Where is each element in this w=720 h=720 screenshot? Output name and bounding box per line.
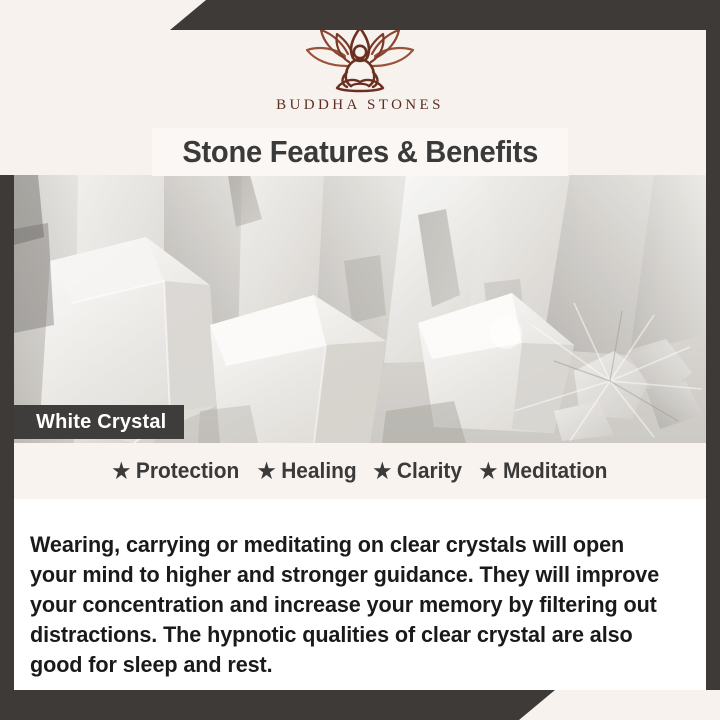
description-area: Wearing, carrying or meditating on clear… — [14, 499, 706, 690]
brand-logo: BUDDHA STONES — [0, 22, 720, 122]
star-icon: ★ — [480, 461, 498, 482]
star-icon: ★ — [257, 461, 275, 482]
benefit-item-healing: ★ Healing — [257, 458, 356, 484]
star-icon: ★ — [112, 461, 130, 482]
clear-quartz-crystal-cluster-photo — [14, 175, 706, 443]
benefit-label: Healing — [281, 458, 356, 484]
star-icon: ★ — [373, 461, 391, 482]
frame-top-bar — [170, 0, 720, 30]
frame-bottom-bar — [0, 690, 555, 720]
benefit-label: Meditation — [503, 458, 607, 484]
lotus-meditation-figure-icon — [285, 22, 435, 94]
frame-left-bar — [0, 175, 14, 720]
stone-features-card: BUDDHA STONES Stone Features & Benefits — [0, 0, 720, 720]
crystal-photo — [14, 175, 706, 443]
brand-name: BUDDHA STONES — [276, 97, 444, 114]
benefits-list: ★ Protection ★ Healing ★ Clarity ★ Medit… — [14, 443, 706, 499]
benefit-label: Clarity — [397, 458, 462, 484]
frame-right-bar — [706, 0, 720, 690]
benefit-item-clarity: ★ Clarity — [373, 458, 462, 484]
title-banner: Stone Features & Benefits — [152, 128, 568, 176]
photo-label-text: White Crystal — [36, 411, 166, 434]
benefit-label: Protection — [136, 458, 239, 484]
photo-label-chip: White Crystal — [14, 405, 184, 439]
benefit-item-protection: ★ Protection — [112, 458, 239, 484]
description-text: Wearing, carrying or meditating on clear… — [30, 530, 664, 680]
benefit-item-meditation: ★ Meditation — [480, 458, 608, 484]
page-title: Stone Features & Benefits — [182, 134, 538, 170]
